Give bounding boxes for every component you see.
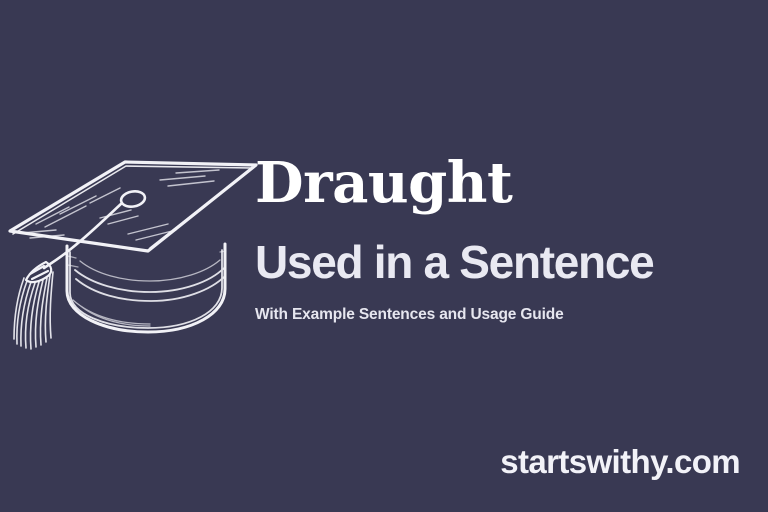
- poster-canvas: Draught Used in a Sentence With Example …: [0, 0, 768, 512]
- page-headline: Used in a Sentence: [255, 211, 750, 285]
- graduation-cap-icon: [0, 148, 270, 363]
- page-tagline: With Example Sentences and Usage Guide: [255, 285, 750, 323]
- headline-group: Draught Used in a Sentence With Example …: [255, 155, 750, 323]
- brand-website: startswithy.com: [500, 445, 740, 478]
- word-title: Draught: [255, 155, 750, 211]
